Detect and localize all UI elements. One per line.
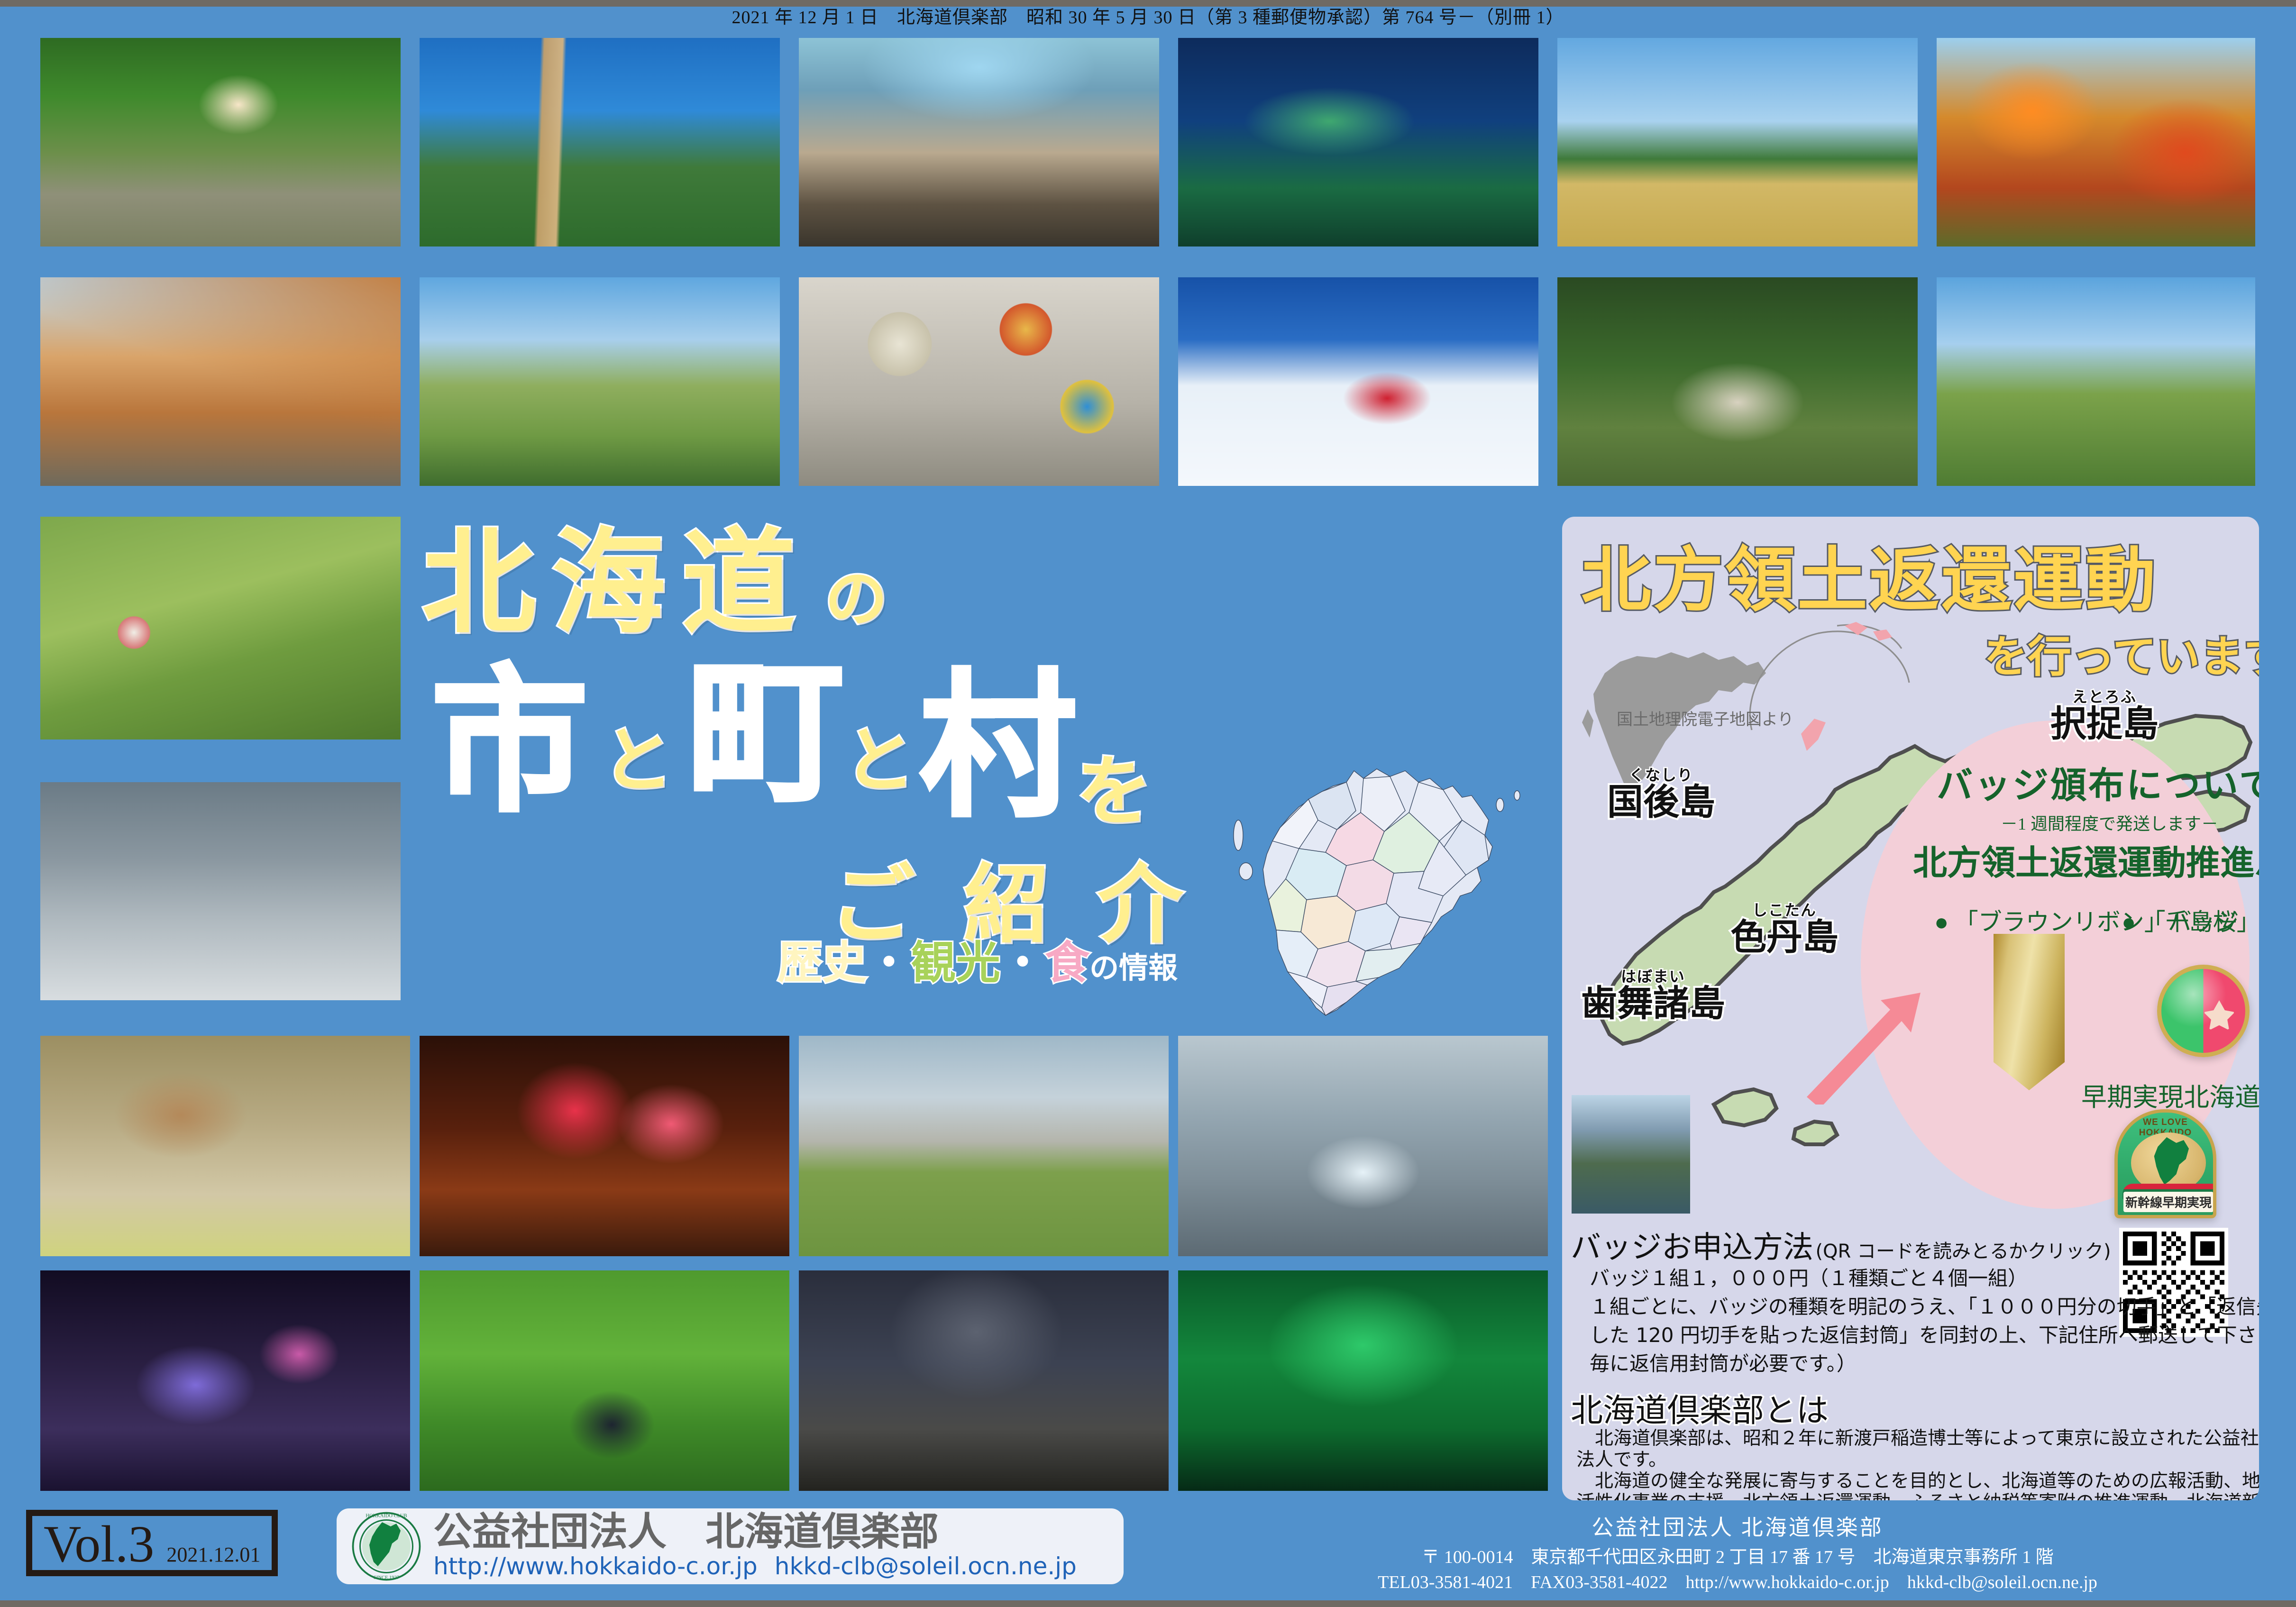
badge-bullet-1: ● (1934, 909, 1948, 935)
photo-kunashiri-island-view (1572, 1095, 1690, 1214)
volume-badge: Vol.3 2021.12.01 (26, 1510, 278, 1576)
badge-section-subheading: －1 週間程度で発送します－ (2001, 815, 2218, 832)
badge-apply-heading: バッジお申込方法 (1571, 1230, 1813, 1265)
tagline-dot-1: ・ (867, 937, 911, 989)
panel-title-main: 北方領土返還運動 (1581, 545, 2158, 615)
hero-kanji-shi: 市 (431, 664, 588, 820)
badge-apply-line-2: １組ごとに、バッジの種類を明記のうえ、「１０００円分の切手」と「返信先を記入 (1590, 1293, 2259, 1321)
photo-wheat-field-harvester (1557, 38, 1918, 247)
island-label-habomai: はぼまい 歯舞諸島 (1581, 969, 1725, 1022)
photo-hot-air-balloons (799, 277, 1159, 486)
photo-museum-interior-whale (799, 38, 1159, 247)
photo-hokkaido-meimei-no-chi-monument (420, 38, 780, 247)
hokkaido-municipality-map (1204, 754, 1564, 1067)
badge-section-subtitle: 北方領土返還運動推進バッジ (1913, 846, 2259, 880)
photo-aerial-lagoon-coastline (1178, 38, 1538, 247)
badge-apply-heading-note: (QR コードを読みとるかクリック) (1815, 1241, 2111, 1262)
photo-fire-festival-float (420, 1036, 789, 1256)
hero-kanji-machi: 町 (687, 654, 844, 811)
badge-bullet-2: ● (2122, 909, 2136, 935)
tagline-history: 歴史 (778, 937, 867, 989)
photo-wooden-station-building (40, 277, 401, 486)
badge-apply-line-4: 毎に返信用封筒が必要です。） (1590, 1350, 1857, 1378)
photo-winter-illumination (40, 1270, 410, 1491)
badge-shinkansen-image: WE LOVE HOKKAIDO 新幹線早期実現 (2114, 1109, 2216, 1218)
hero-line-no: の (825, 568, 887, 630)
bottom-frame-bar (0, 1600, 2296, 1607)
island-label-kunashiri: くなしり 国後島 (1607, 768, 1715, 820)
hero-particle-wo: を (1076, 754, 1152, 830)
badge-apply-line-3: した 120 円切手を貼った返信封筒」を同封の上、下記住所へ郵送して下さい。（１… (1590, 1322, 2259, 1349)
badge-option-2-row: ● 「千島桜」バッジ (2122, 903, 2259, 937)
photo-glamping-tent-cabin (1557, 277, 1918, 486)
about-heading: 北海道倶楽部とは (1571, 1384, 1829, 1431)
footer-org-name: 公益社団法人 北海道倶楽部 (1185, 1513, 2290, 1543)
photo-green-forest-projection (1178, 1270, 1548, 1491)
island-label-etorofu: えとろふ 択捉島 (2050, 690, 2159, 742)
hero-particle-to-2: と (844, 725, 915, 796)
badge-apply-line-1: バッジ１組１，０００円（１種類ごと４個一組） (1590, 1265, 2028, 1292)
photo-autumn-maple-leaves (1937, 38, 2255, 247)
footer-contact-line: TEL03-3581-4021 FAX03-3581-4022 http://w… (1185, 1570, 2290, 1595)
club-email[interactable]: hkkd-clb@soleil.ocn.ne.jp (775, 1552, 1077, 1580)
hero-line-goshoukai: ご 紹 介 (830, 863, 1192, 948)
photo-jewelry-ice (1178, 1036, 1548, 1256)
badge-option-3-label: 早期実現北海道新幹線バッジ (2081, 1083, 2259, 1112)
photo-cycling-group-field (1937, 277, 2255, 486)
tagline-food: 食 (1045, 937, 1089, 989)
photo-lotus-pond-diver (420, 1270, 789, 1491)
volume-date: 2021.12.01 (166, 1543, 260, 1567)
footer-contact-block: 公益社団法人 北海道倶楽部 〒 100-0014 東京都千代田区永田町 2 丁目… (1185, 1513, 2290, 1607)
volume-label: Vol.3 (44, 1518, 154, 1570)
badge-brown-ribbon-image (1994, 934, 2065, 1090)
photo-frost-covered-trees-winter (40, 782, 401, 1000)
top-frame-bar (0, 0, 2296, 7)
badge-option-3-row: 早期実現北海道新幹線バッジ (2081, 1076, 2259, 1114)
pointer-arrow-icon (1799, 991, 1941, 1105)
hero-particle-to-1: と (602, 725, 673, 796)
photo-soba-road-signboard (420, 277, 780, 486)
photo-mammoth-skeleton-museum (40, 1036, 410, 1256)
masthead-imprint: 2021 年 12 月 1 日 北海道倶楽部 昭和 30 年 5 月 30 日（… (0, 7, 2296, 28)
panel-title-sub: を行っています (1984, 635, 2259, 679)
hoppou-ryoudo-panel: 国土地理院電子地図より 北方領土返還運動 を行っています えとろふ 択捉島 くな… (1562, 517, 2259, 1500)
badge-shinkansen-bottom-text: 新幹線早期実現 (2123, 1192, 2214, 1212)
island-label-shikotan: しこたん 色丹島 (1730, 903, 1839, 955)
tagline-dot-2: ・ (1000, 937, 1045, 989)
badge-apply-heading-row: バッジお申込方法 (QR コードを読みとるかクリック) (1571, 1223, 2111, 1267)
club-url[interactable]: http://www.hokkaido-c.or.jp (433, 1552, 758, 1580)
photo-milky-way-observatory (799, 1270, 1169, 1491)
island-name-kunashiri: 国後島 (1607, 781, 1715, 823)
tagline-sightseeing: 観光 (911, 937, 1000, 989)
sakura-petal-icon (2204, 1000, 2235, 1032)
hero-kanji-mura: 村 (920, 668, 1076, 825)
club-org-name: 公益社団法人 北海道倶楽部 (433, 1513, 1077, 1552)
photo-modern-museum-lawn (799, 1036, 1169, 1256)
club-logo-pill: HOKKAIDO CLUB SINCE 1927 公益社団法人 北海道倶楽部 h… (337, 1508, 1124, 1584)
badge-section-heading: バッジ頒布について (1937, 768, 2259, 804)
photo-torokko-oukoku-bifuka (40, 38, 401, 247)
tagline-info: の情報 (1089, 950, 1178, 985)
hokkaido-club-seal-icon: HOKKAIDO CLUB SINCE 1927 (351, 1511, 422, 1582)
svg-text:SINCE 1927: SINCE 1927 (374, 1575, 399, 1580)
island-name-etorofu: 択捉島 (2050, 703, 2159, 745)
poster-page: 2021 年 12 月 1 日 北海道倶楽部 昭和 30 年 5 月 30 日（… (0, 0, 2296, 1607)
footer-address: 〒 100-0014 東京都千代田区永田町 2 丁目 17 番 17 号 北海道… (1185, 1545, 2290, 1570)
hero-tagline: 歴史・観光・食の情報 (778, 941, 1178, 986)
island-name-habomai: 歯舞諸島 (1581, 982, 1725, 1024)
photo-aerial-farmland-radar-dome (40, 517, 401, 740)
about-paragraph-1: 北海道倶楽部は、昭和２年に新渡戸稲造博士等によって東京に設立された公益社団 (1576, 1426, 2259, 1452)
badge-chishima-sakura-image (2157, 965, 2250, 1057)
hero-line-hokkaido: 北海道 (422, 526, 812, 640)
island-name-shikotan: 色丹島 (1730, 916, 1839, 958)
svg-text:HOKKAIDO CLUB: HOKKAIDO CLUB (366, 1514, 407, 1519)
about-paragraph-2b: 活性化事業の支援、北方領土返還運動、ふるさと納税等寄附の推進運動、北海道新幹 (1576, 1490, 2259, 1500)
photo-pyeongchang-2018-ice-hockey (1178, 277, 1538, 486)
badge-option-2-label: 「千島桜」バッジ (2142, 909, 2259, 935)
